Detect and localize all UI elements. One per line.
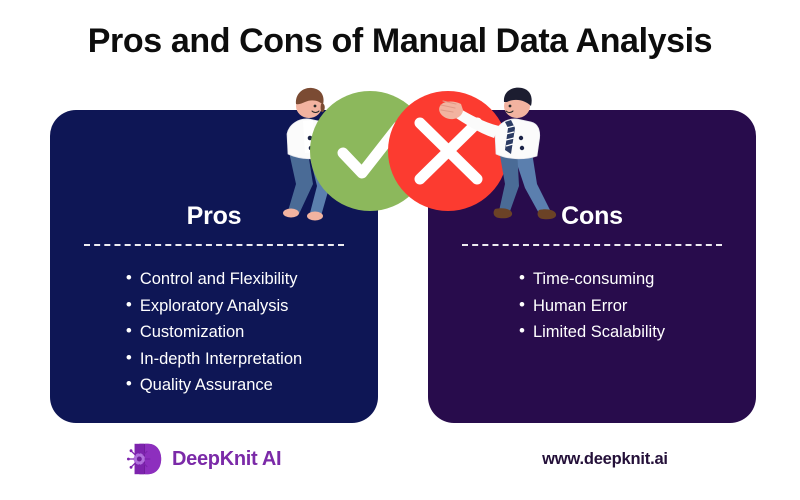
list-item: Limited Scalability bbox=[519, 319, 665, 346]
brand-logo[interactable]: DeepKnit AI bbox=[126, 440, 281, 478]
brand-name: DeepKnit AI bbox=[172, 448, 281, 471]
list-item: Customization bbox=[126, 319, 245, 346]
list-item: Time-consuming bbox=[519, 266, 654, 293]
infographic-canvas: Pros and Cons of Manual Data Analysis Pr… bbox=[0, 0, 800, 500]
center-illustration bbox=[255, 80, 565, 222]
pros-divider bbox=[84, 244, 344, 246]
list-item: Quality Assurance bbox=[126, 372, 273, 399]
cons-divider bbox=[462, 244, 722, 246]
list-item: Exploratory Analysis bbox=[126, 293, 289, 320]
list-item: Human Error bbox=[519, 293, 627, 320]
deepknit-d-chip-logo bbox=[126, 440, 164, 478]
list-item: Control and Flexibility bbox=[126, 266, 298, 293]
pros-list: Control and Flexibility Exploratory Anal… bbox=[50, 266, 378, 399]
page-title: Pros and Cons of Manual Data Analysis bbox=[0, 22, 800, 61]
cons-list: Time-consuming Human Error Limited Scala… bbox=[428, 266, 756, 346]
website-url[interactable]: www.deepknit.ai bbox=[490, 450, 720, 469]
list-item: In-depth Interpretation bbox=[126, 346, 302, 373]
